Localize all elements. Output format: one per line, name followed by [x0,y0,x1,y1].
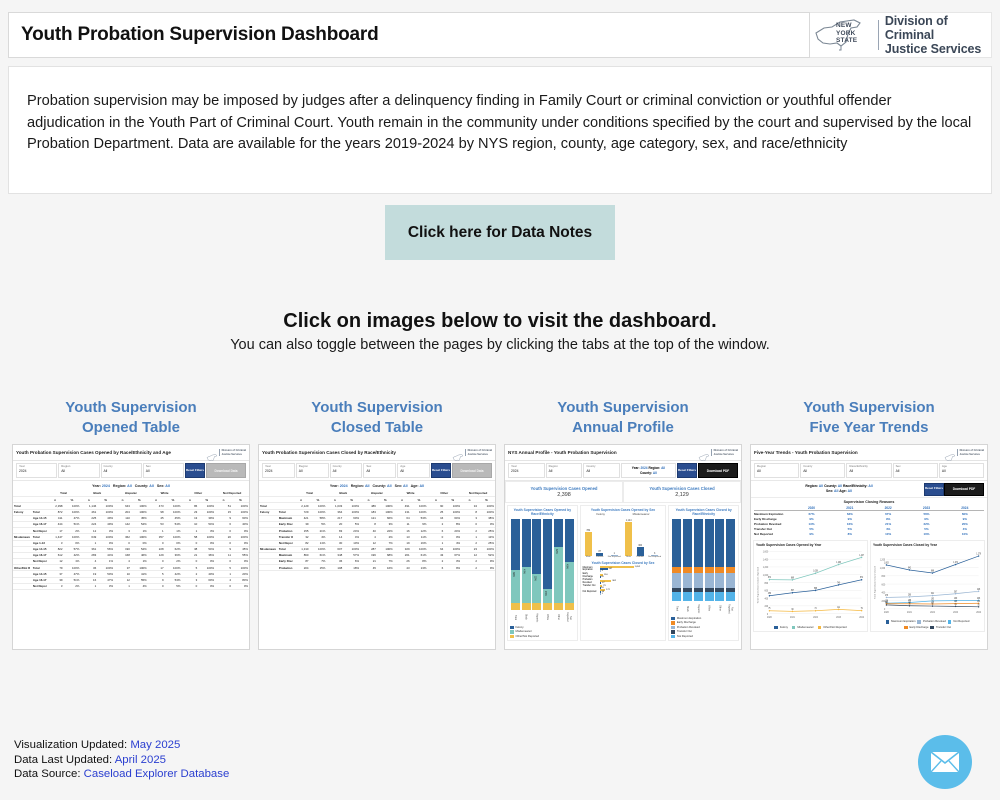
filter-value: All [803,469,842,473]
filter-region[interactable]: Region All [58,463,99,478]
svg-text:74: 74 [815,608,818,610]
filter-value: 2024 [265,469,292,473]
row-category [259,565,276,571]
panel-title: Youth Supervision Cases Closed by Race/E… [671,508,736,516]
svg-text:321: 321 [931,593,935,595]
filter-value: All [942,469,981,473]
hbar-value: 247 [609,568,613,570]
filter-county[interactable]: County All [101,463,142,478]
row-subcategory: Not Reported [30,559,47,565]
crumb-key: Age: [839,489,847,493]
svg-text:942: 942 [908,567,912,569]
svg-text:1,263: 1,263 [836,562,841,564]
trend-chart-panels: Youth Supervision Cases Opened by Year 0… [751,538,987,634]
row-subcategory: Age 14-15 [30,571,47,577]
svg-text:2020: 2020 [767,616,772,619]
footer-viz-value[interactable]: May 2025 [130,739,180,751]
table-cell: 0 [181,583,198,589]
panel-title: Youth Supervision Cases Opened by Race/E… [510,508,575,516]
table-cell: 5% [165,583,182,589]
filter-value: All [299,469,326,473]
svg-text:2021: 2021 [907,611,912,614]
footer-viz-label: Visualization Updated: [14,739,127,751]
svg-text:2023: 2023 [836,616,841,619]
svg-text:Total Supervision Cases Opened: Total Supervision Cases Opened [757,566,760,603]
svg-text:206: 206 [977,598,981,600]
table-cell: 0% [198,583,215,589]
row-subcategory: Early Discharge [276,521,293,527]
axis-tick-label: Other [718,602,721,614]
filter-year[interactable]: Year 2024 [508,463,545,478]
footer-visualization-updated: Visualization Updated: May 2025 [14,738,229,753]
filter-county[interactable]: County All [800,463,845,478]
instructions: Click on images below to visit the dashb… [0,310,1000,353]
filter-race-ethnicity[interactable]: Race/Ethnicity All [846,463,891,478]
filter-value: 2024 [19,469,54,473]
crumb-value: All [165,484,170,488]
filter-value: All [849,469,888,473]
crumb-value: All [868,484,872,488]
thumb-filter-summary: Region: All County: All Race/Ethnicity: … [754,484,924,493]
crumb-key: Year: [330,484,339,488]
filter-value: All [896,469,935,473]
table-cell: 18% [343,565,360,571]
svg-text:1,447: 1,447 [859,555,864,557]
download-data-button[interactable]: Download Data [452,463,492,478]
crumb-key: Sex: [157,484,165,488]
page-title: Youth Probation Supervision Dashboard [21,24,379,46]
axis-tick-label: Hispanic [697,602,700,614]
thumbnail-closed-table[interactable]: Youth Probation Supervision Cases Closed… [258,444,496,650]
hbar-category: Maximum Expiration [583,567,599,573]
logo-state-line1: NEW [836,22,852,29]
stacked-bar-chart-opened-race: 36%Total40%Black32%Hispanic15%White62%Ot… [510,516,575,623]
stacked-bar-column: 40%Black [522,519,531,623]
stacked-bar-chart-closed-race: TotalBlackHispanicWhiteOtherNot Reported [671,516,736,614]
footer-data-value[interactable]: April 2025 [115,754,166,766]
row-subcategory: Age 16-17 [30,577,47,583]
svg-text:459: 459 [768,593,772,595]
svg-text:60: 60 [791,609,794,611]
crumb-key: Race/Ethnicity: [843,484,868,488]
hbar-value: 362 [612,580,616,582]
filter-year[interactable]: Year 2024 [16,463,57,478]
svg-text:Total Supervision Cases Closed: Total Supervision Cases Closed [874,565,877,599]
svg-text:75: 75 [768,608,771,610]
row-category: Misdemeanor [13,534,30,540]
reset-filters-button[interactable]: Reset Filters [924,483,944,496]
panel-cases-opened-by-year: Youth Supervision Cases Opened by Year 0… [753,540,868,632]
title-container: Youth Probation Supervision Dashboard [8,12,810,58]
logo-state-line2: YORK [836,30,856,37]
card-title-line2: Annual Profile [572,419,674,436]
svg-text:1,200: 1,200 [880,558,886,561]
contact-email-button[interactable] [918,735,972,789]
card-opened-table: Youth Supervision Opened Table Youth Pro… [12,398,250,658]
thumb-title: Youth Probation Supervision Cases Opened… [16,450,171,455]
hbar-value: 110 [604,574,608,576]
table-row: Probation Revoked20415%10818%4516%4313%6… [259,565,495,571]
bar-column: 1Not Reported [608,553,621,559]
card-five-year-trends-title[interactable]: Youth Supervision Five Year Trends [750,398,988,444]
download-data-button[interactable]: Download Data [206,463,246,478]
thumbnail-opened-table[interactable]: Youth Probation Supervision Cases Opened… [12,444,250,650]
table-row: Not Reported9%8%10%10%10% [754,531,984,536]
crumb-key: Region: [805,484,818,488]
hbar-row: Maximum Expiration1,0522473 [583,566,664,572]
legend-closed-race: Maximum ExpirationEarly DischargeProbati… [671,615,736,639]
filter-year[interactable]: Year 2024 [262,463,295,478]
row-subcategory: Age 14-15 [30,515,47,521]
svg-text:2021: 2021 [790,616,795,619]
filter-value: All [104,469,139,473]
filter-value: All [333,469,360,473]
table-cell: 3 [47,583,64,589]
closing-pct-cell: 10% [869,531,907,536]
filter-value: All [366,469,393,473]
card-title-line2: Opened Table [82,419,180,436]
axis-tick-label: Not Reported [608,556,621,559]
footer-source-label: Data Source: [14,768,80,780]
thumb-title: Youth Probation Supervision Cases Closed… [262,450,396,455]
bar-column: 1,144Male [625,520,632,559]
closing-pct-cell: 10% [907,531,945,536]
card-closed-table-title[interactable]: Youth Supervision Closed Table [258,398,496,444]
row-subcategory: Age 16-17 [30,521,47,527]
row-category: Other/Not Reported [13,565,30,571]
legend-item: Felony [510,626,575,630]
legend-item: Other/Not Reported [818,626,847,630]
row-subcategory: Age 14-15 [30,546,47,552]
thumbnail-annual-profile[interactable]: NYS Annual Profile - Youth Probation Sup… [504,444,742,650]
table-cell: 9% [444,565,461,571]
svg-text:2023: 2023 [953,611,958,614]
thumb-filter-bar: Region All County All Race/Ethnicity All… [751,461,987,481]
axis-tick-label: Male [626,556,631,559]
legend-item: Felony [774,626,788,630]
legend-item: Early Discharge [904,626,928,630]
kpi-row: Youth Supervision Cases Opened 2,398 You… [505,481,741,503]
table-cell: 45 [360,565,377,571]
dashboard-card-grid: Youth Supervision Opened Table Youth Pro… [8,398,992,660]
row-subcategory: Age 1-13 [30,540,47,546]
legend-item: Misdemeanor [792,626,814,630]
thumb-header: Youth Probation Supervision Cases Opened… [13,445,249,461]
filter-sex[interactable]: Sex All [143,463,184,478]
table-cell: 6 [427,565,444,571]
crumb-value: All [127,484,132,488]
bar-chart-closed-by-sex: Maximum Expiration1,0522473Early Dischar… [583,565,664,638]
table-cell: 16% [377,565,394,571]
table-cell: 1 [80,583,97,589]
card-opened-table-title[interactable]: Youth Supervision Opened Table [12,398,250,444]
table-cell: 2 [461,565,478,571]
closed-data-table: TotalBlackHispanicWhiteOtherNot Reported… [259,491,495,571]
crumb-key: County: [824,484,837,488]
bar-column: 87Female [596,551,603,558]
svg-text:1,400: 1,400 [763,558,769,561]
mini-agency-logo-icon: Division of CriminalJustice Services [452,449,492,457]
card-title-line1: Youth Supervision [65,399,196,416]
agency-line1: Division of Criminal [885,14,948,42]
legend-item: Misdemeanor [510,630,575,634]
crumb-key: Region: [113,484,126,488]
filter-sex[interactable]: Sex All [363,463,396,478]
thumb-filter-summary: Year: 2024 Region: All County: All Sex: … [259,481,495,491]
bar-column: 3Not Reported [648,553,661,559]
filter-age[interactable]: Age All [939,463,984,478]
line-chart-closed: 02004006008001,0001,20020202021202220232… [873,547,982,618]
table-cell: 4% [131,583,148,589]
thumb-filter-bar: Year 2024 Region All County All Sex All [13,461,249,481]
svg-text:874: 874 [768,577,772,579]
svg-text:1,074: 1,074 [953,562,958,564]
crumb-value: 2024 [102,484,110,488]
card-annual-profile-title[interactable]: Youth Supervision Annual Profile [504,398,742,444]
stacked-bar-column: Hispanic [694,519,703,614]
row-subcategory: Age 16-17 [30,552,47,558]
svg-text:800: 800 [882,575,886,578]
new-york-state-outline-icon: NEW YORK STATE [810,17,872,53]
hbar-value: 20 [601,576,603,578]
svg-text:800: 800 [765,582,769,585]
panel-cases-closed-by-year: Youth Supervision Cases Closed by Year 0… [870,540,985,632]
card-annual-profile: Youth Supervision Annual Profile NYS Ann… [504,398,742,658]
page-header: Youth Probation Supervision Dashboard NE… [8,12,992,58]
kpi-label: Youth Supervision Cases Opened [531,486,598,491]
axis-tick-label: Total [675,602,678,614]
filter-value: All [61,469,96,473]
svg-text:600: 600 [882,583,886,586]
filter-age[interactable]: Age All [397,463,430,478]
legend-item: Maximum Expiration [886,620,916,624]
thumb-title: Five-Year Trends - Youth Probation Super… [754,450,858,455]
agency-name: Division of Criminal Justice Services [885,14,985,56]
filter-value: All [549,469,580,473]
opened-data-table: TotalBlackHispanicWhiteOtherNot Reported… [13,491,249,590]
row-subcategory: Not Reported [276,540,293,546]
stacked-bar-column: 36%Total [511,519,520,623]
thumb-header: NYS Annual Profile - Youth Probation Sup… [505,445,741,461]
filter-value: All [586,469,617,473]
hbar-category: Transfer Out [583,585,599,588]
crumb-value: All [387,484,392,488]
table-cell: 0% [232,583,249,589]
axis-tick-label: Other [557,611,560,623]
row-subcategory: Maximum Expiration [276,515,293,521]
hbar-row: Probation Revoked36247 [583,579,664,585]
thumb-header: Five-Year Trends - Youth Probation Super… [751,445,987,461]
crumb-value: All [653,471,657,475]
kpi-value: 2,129 [675,492,689,498]
axis-tick-label: Hispanic [535,611,538,623]
row-subcategory: Not Reported [30,528,47,534]
crumb-value: 2024 [340,484,348,488]
legend-item: Other/Not Reported [510,635,575,639]
data-notes-button-label: Click here for Data Notes [408,224,592,242]
filter-value: All [400,469,427,473]
thumb-filter-bar: Year 2024 Region All County All Year: [505,461,741,481]
stacked-bar-column: Total [672,519,681,614]
logo-state-line3: STATE [836,37,857,44]
filter-region[interactable]: Region All [754,463,799,478]
filter-county[interactable]: County All [330,463,363,478]
thumb-title: NYS Annual Profile - Youth Probation Sup… [508,450,617,455]
svg-text:2024: 2024 [976,611,981,614]
svg-text:199: 199 [954,598,958,600]
legend-opened-trend: FelonyMisdemeanorOther/Not Reported [756,624,865,630]
axis-tick-label: Male [586,556,591,559]
bar-column: 300Female [636,545,643,559]
footer: Visualization Updated: May 2025 Data Las… [14,738,229,782]
crumb-value: All [403,484,408,488]
axis-tick-label: Black [525,611,528,623]
card-title-line1: Youth Supervision [803,399,934,416]
stacked-bar-column: 62%Other [554,519,563,623]
svg-text:1,000: 1,000 [880,567,886,570]
description-panel: Probation supervision may be imposed by … [8,66,992,194]
agency-line2: Justice Services [885,42,981,56]
bar-column: 784Male [585,530,592,558]
svg-text:278: 278 [885,595,889,597]
axis-tick-label: Black [686,602,689,614]
crumb-key: Sex: [395,484,403,488]
svg-text:136: 136 [977,601,981,603]
footer-data-label: Data Last Updated: [14,754,112,766]
row-subcategory: Early Discharge [276,559,293,565]
crumb-key: Sex: [826,489,833,493]
legend-item: Probation Revoked [917,620,945,624]
panel-opened-by-race: Youth Supervision Cases Opened by Race/E… [507,505,578,641]
thumb-header: Youth Probation Supervision Cases Closed… [259,445,495,461]
data-notes-button[interactable]: Click here for Data Notes [385,205,615,260]
closing-reasons-table: 20202021202220232024Maximum Expiration67… [754,505,984,536]
thumb-filter-bar: Year 2024 Region All County All Sex All [259,461,495,481]
closing-reason-label: Not Reported [754,531,792,536]
axis-tick-label: Not Reported [728,602,734,614]
closing-pct-cell: 8% [831,531,869,536]
crumb-value: All [420,484,425,488]
svg-text:50: 50 [978,604,981,606]
description-text: Probation supervision may be imposed by … [27,91,973,156]
download-pdf-button[interactable]: Download PDF [698,463,738,478]
svg-text:61: 61 [955,604,958,606]
table-cell: 3% [97,583,114,589]
stacked-bar-column: Not Reported [726,519,735,614]
hbar-row: Not Reported172331 [583,589,664,595]
panel-opened-and-closed-by-sex: Youth Supervision Cases Opened by Sex Fe… [580,505,667,641]
svg-text:193: 193 [931,598,935,600]
thumbnail-five-year-trends[interactable]: Five-Year Trends - Youth Probation Super… [750,444,988,650]
logo-divider [878,20,879,50]
closing-pct-cell: 9% [792,531,830,536]
svg-text:2022: 2022 [813,616,818,619]
crumb-key: Age: [411,484,419,488]
svg-text:2022: 2022 [930,611,935,614]
svg-text:290: 290 [908,594,912,596]
footer-source-link[interactable]: Caseload Explorer Database [84,768,230,780]
reset-filters-button[interactable]: Reset Filters [185,463,205,478]
filter-summary-box: Year: 2024 Region: All County: All [621,463,676,478]
crumb-key: County: [640,471,652,475]
filter-region[interactable]: Region All [296,463,329,478]
closing-pct-cell: 10% [946,531,984,536]
row-category: Misdemeanor [259,546,276,552]
table-cell: 0 [215,583,232,589]
row-subcategory: Probation Revoked [276,565,293,571]
bar-chart-opened-by-sex: 784Male87Female1Not Reported1,144Male300… [583,516,664,558]
filter-value: All [146,469,181,473]
hbar-value: 1 [602,593,603,595]
reset-filters-button[interactable]: Reset Filters [677,463,697,478]
filter-county[interactable]: County All [583,463,620,478]
footer-data-source: Data Source: Caseload Explorer Database [14,767,229,782]
svg-text:400: 400 [765,597,769,600]
svg-text:1,200: 1,200 [763,566,769,569]
svg-text:2024: 2024 [859,616,864,619]
thumb-filter-summary: Year: 2024 Region: All County: All Sex: … [13,481,249,491]
legend-item: Early Discharge [671,621,736,625]
card-closed-table: Youth Supervision Closed Table Youth Pro… [258,398,496,658]
card-title-line1: Youth Supervision [311,399,442,416]
table-cell: 1 [114,583,131,589]
mini-agency-logo-icon: Division of CriminalJustice Services [206,449,246,457]
hbar-category: Early Discharge [583,573,599,579]
legend-item: Not Reported [948,620,970,624]
axis-tick-label: Not Reported [566,611,572,623]
table-cell: 2% [64,583,81,589]
table-row: Not Reported32%13%14%05%00%00% [13,583,249,589]
table-cell: 204 [293,565,310,571]
axis-tick-label: White [708,602,711,614]
envelope-icon [930,751,960,773]
legend-item: Maximum Expiration [671,617,736,621]
hbar-value: 172 [606,589,610,591]
crumb-value: All [149,484,154,488]
svg-text:1,038: 1,038 [813,571,818,573]
svg-text:1,600: 1,600 [763,550,769,553]
legend-item: Transfer Out [671,630,736,634]
legend-closed-trend: Maximum ExpirationProbation RevokedNot R… [873,618,982,629]
row-subcategory: Not Reported [30,583,47,589]
download-pdf-button[interactable]: Download PDF [944,483,984,496]
crumb-value: All [365,484,370,488]
supervision-closing-reasons-section: Supervision Closing Reasons 202020212022… [751,498,987,538]
profile-chart-panels: Youth Supervision Cases Opened by Race/E… [505,503,741,643]
row-subcategory: Probation Revoked [276,528,293,534]
crumb-key: Year: [632,466,640,470]
hbar-category: Probation Revoked [583,579,599,585]
kpi-label: Youth Supervision Cases Closed [649,486,714,491]
kpi-cases-opened: Youth Supervision Cases Opened 2,398 [505,481,623,503]
table-cell: 108 [326,565,343,571]
reset-filters-button[interactable]: Reset Filters [431,463,451,478]
axis-tick-label: Total [514,611,517,623]
crumb-value: All [848,489,852,493]
filter-sex[interactable]: Sex All [893,463,938,478]
crumb-key: Region: [351,484,364,488]
svg-text:428: 428 [977,589,981,591]
legend-item: Not Reported [671,635,736,639]
axis-tick-label: Female [596,556,603,559]
hbar-category: Not Reported [583,591,599,594]
filter-region[interactable]: Region All [546,463,583,478]
legend-item: Probation Revoked [671,626,736,630]
stacked-bar-column: Other [715,519,724,614]
axis-tick-label: Not Reported [648,556,661,559]
svg-text:79: 79 [861,608,864,610]
row-category [13,583,30,589]
